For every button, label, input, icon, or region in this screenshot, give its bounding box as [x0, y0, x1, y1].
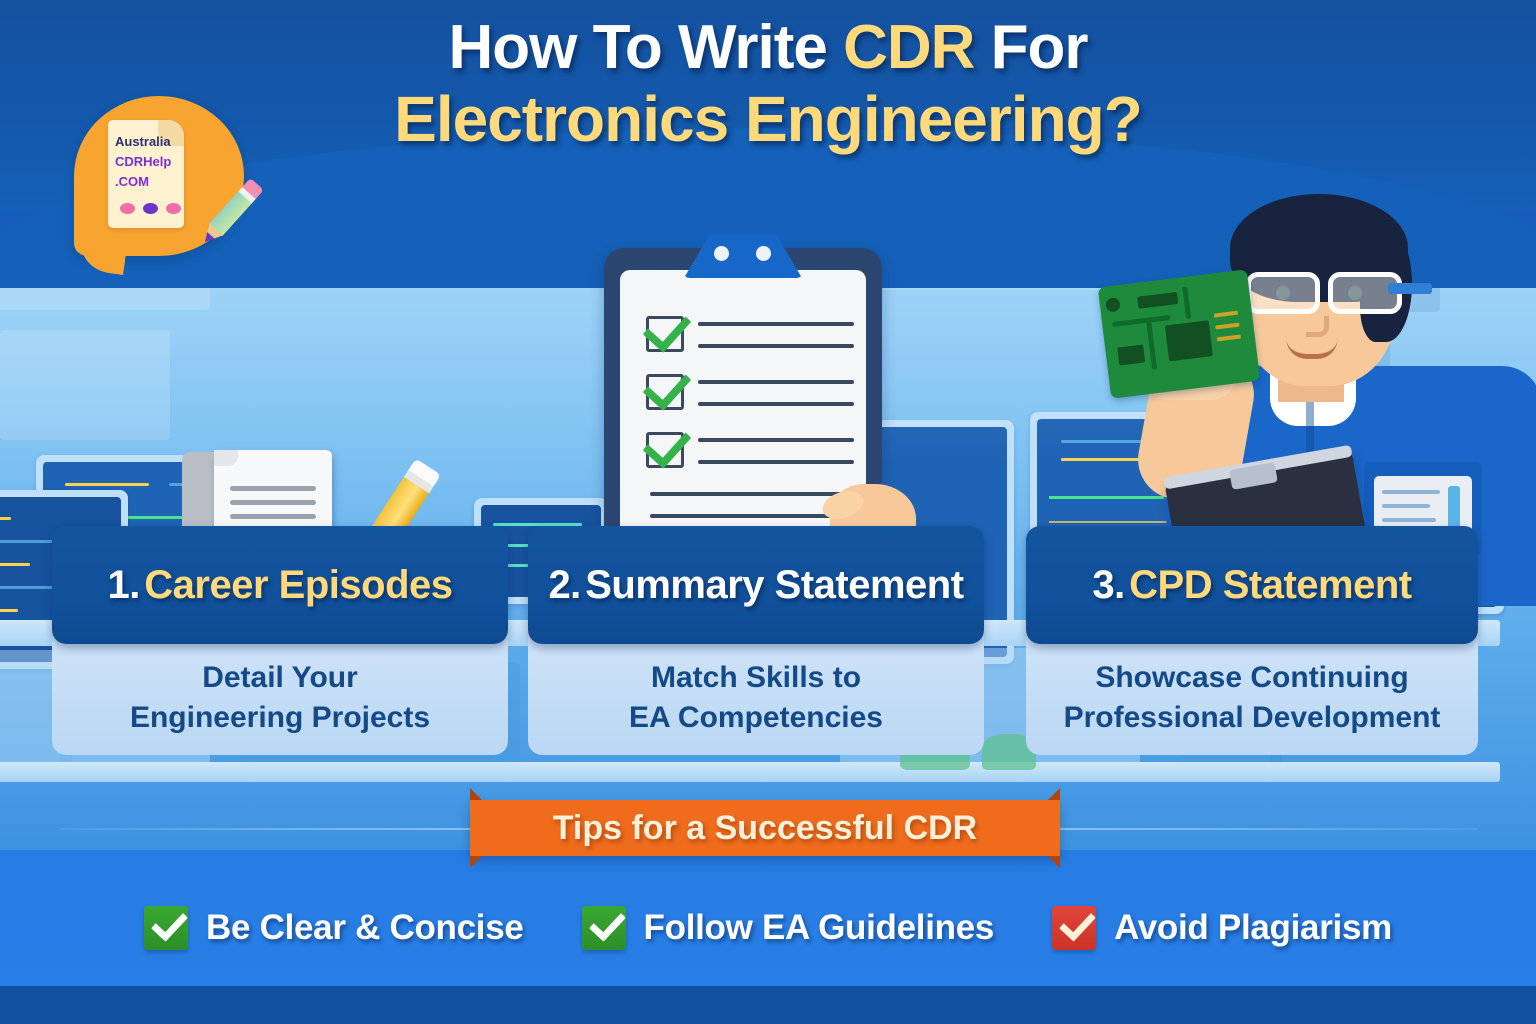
step-card-2-number: 2.: [548, 563, 580, 608]
step-card-1[interactable]: 1. Career Episodes Detail Your Engineeri…: [52, 526, 508, 755]
check-box-green-icon: [582, 906, 626, 950]
infographic-canvas: How To Write CDR For Electronics Enginee…: [0, 0, 1536, 1024]
check-box-red-icon: [1052, 906, 1096, 950]
logo-text-line1: Australia: [115, 132, 180, 152]
tip-item-1[interactable]: Be Clear & Concise: [144, 906, 524, 950]
tips-row: Be Clear & Concise Follow EA Guidelines …: [0, 896, 1536, 960]
step-card-3-header: 3. CPD Statement: [1026, 526, 1478, 644]
check-box-green-icon: [144, 906, 188, 950]
title-accent-cdr: CDR: [843, 13, 974, 82]
step-card-3-body-line2: Professional Development: [1042, 698, 1462, 738]
tips-banner: Tips for a Successful CDR: [470, 800, 1060, 856]
step-card-2-title: Summary Statement: [585, 563, 963, 608]
step-card-2-body: Match Skills to EA Competencies: [528, 628, 984, 755]
step-card-2-header: 2. Summary Statement: [528, 526, 984, 644]
logo-document-icon: Australia CDRHelp .COM: [108, 120, 184, 228]
tips-banner-label: Tips for a Successful CDR: [553, 809, 978, 848]
step-card-3-body-line1: Showcase Continuing: [1042, 658, 1462, 698]
tip-item-1-label: Be Clear & Concise: [206, 908, 524, 948]
tip-item-3-label: Avoid Plagiarism: [1114, 908, 1392, 948]
step-card-3-body: Showcase Continuing Professional Develop…: [1026, 628, 1478, 755]
logo-dots: [120, 203, 181, 214]
step-card-1-body-line2: Engineering Projects: [68, 698, 492, 738]
clipboard-checklist-illustration: [604, 248, 882, 568]
step-card-3-title: CPD Statement: [1129, 563, 1411, 608]
circuit-board-icon: [1098, 269, 1261, 398]
step-card-1-body-line1: Detail Your: [68, 658, 492, 698]
step-card-1-header: 1. Career Episodes: [52, 526, 508, 644]
tip-item-3[interactable]: Avoid Plagiarism: [1052, 906, 1392, 950]
footer-band: [0, 986, 1536, 1024]
tip-item-2-label: Follow EA Guidelines: [644, 908, 995, 948]
step-card-3[interactable]: 3. CPD Statement Showcase Continuing Pro…: [1026, 526, 1478, 755]
step-card-1-title: Career Episodes: [144, 563, 452, 608]
tip-item-2[interactable]: Follow EA Guidelines: [582, 906, 995, 950]
title-line1-part2: For: [974, 13, 1087, 82]
title-line1-part1: How To Write: [448, 13, 843, 82]
steps-row: 1. Career Episodes Detail Your Engineeri…: [0, 526, 1536, 782]
step-card-2-body-line2: EA Competencies: [544, 698, 968, 738]
safety-goggles-icon: [1238, 272, 1410, 314]
step-card-2-body-line1: Match Skills to: [544, 658, 968, 698]
logo-text-line2: CDRHelp: [115, 152, 180, 172]
step-card-1-number: 1.: [107, 563, 139, 608]
step-card-3-number: 3.: [1092, 563, 1124, 608]
step-card-2[interactable]: 2. Summary Statement Match Skills to EA …: [528, 526, 984, 755]
step-card-1-body: Detail Your Engineering Projects: [52, 628, 508, 755]
logo[interactable]: Australia CDRHelp .COM: [74, 96, 244, 256]
logo-text-line3: .COM: [115, 172, 180, 192]
